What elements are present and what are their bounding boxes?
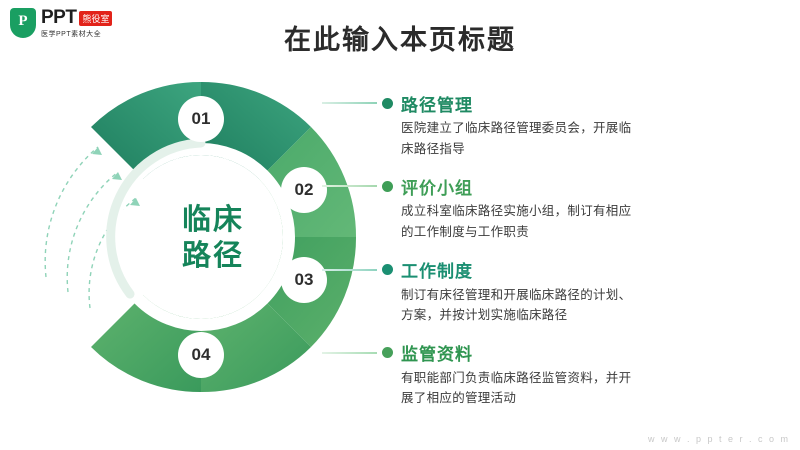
- content-list: 路径管理 医院建立了临床路径管理委员会，开展临床路径指导 评价小组 成立科室临床…: [382, 92, 782, 425]
- connector-line-2: [322, 185, 377, 187]
- page-title: 在此输入本页标题: [0, 18, 800, 57]
- center-line-2: 路径: [153, 238, 273, 274]
- list-item: 路径管理 医院建立了临床路径管理委员会，开展临床路径指导: [382, 92, 782, 159]
- bullet-icon: [382, 181, 393, 192]
- item-body: 制订有床径管理和开展临床路径的计划、方案，并按计划实施临床路径: [401, 285, 641, 326]
- connector-line-3: [322, 269, 377, 271]
- bullet-icon: [382, 98, 393, 109]
- center-line-1: 临床: [153, 202, 273, 238]
- item-body: 有职能部门负责临床路径监管资料，并开展了相应的管理活动: [401, 368, 641, 409]
- item-body: 医院建立了临床路径管理委员会，开展临床路径指导: [401, 118, 641, 159]
- connector-line-1: [322, 102, 377, 104]
- donut-center-label: 临床 路径: [153, 202, 273, 275]
- segment-badge-03[interactable]: 03: [281, 257, 327, 303]
- donut-diagram: 临床 路径 01 02 03 04: [38, 62, 358, 412]
- footer-url: w w w . p p t e r . c o m: [648, 434, 790, 444]
- segment-badge-04[interactable]: 04: [178, 332, 224, 378]
- item-title: 工作制度: [401, 257, 473, 282]
- list-item: 评价小组 成立科室临床路径实施小组，制订有相应的工作制度与工作职责: [382, 175, 782, 242]
- bullet-icon: [382, 264, 393, 275]
- list-item: 监管资料 有职能部门负责临床路径监管资料，并开展了相应的管理活动: [382, 342, 782, 409]
- list-item: 工作制度 制订有床径管理和开展临床路径的计划、方案，并按计划实施临床路径: [382, 259, 782, 326]
- bullet-icon: [382, 347, 393, 358]
- segment-badge-02[interactable]: 02: [281, 167, 327, 213]
- item-title: 评价小组: [401, 174, 473, 199]
- item-title: 路径管理: [401, 91, 473, 116]
- item-body: 成立科室临床路径实施小组，制订有相应的工作制度与工作职责: [401, 201, 641, 242]
- segment-badge-01[interactable]: 01: [178, 96, 224, 142]
- item-title: 监管资料: [401, 340, 473, 365]
- connector-line-4: [322, 352, 377, 354]
